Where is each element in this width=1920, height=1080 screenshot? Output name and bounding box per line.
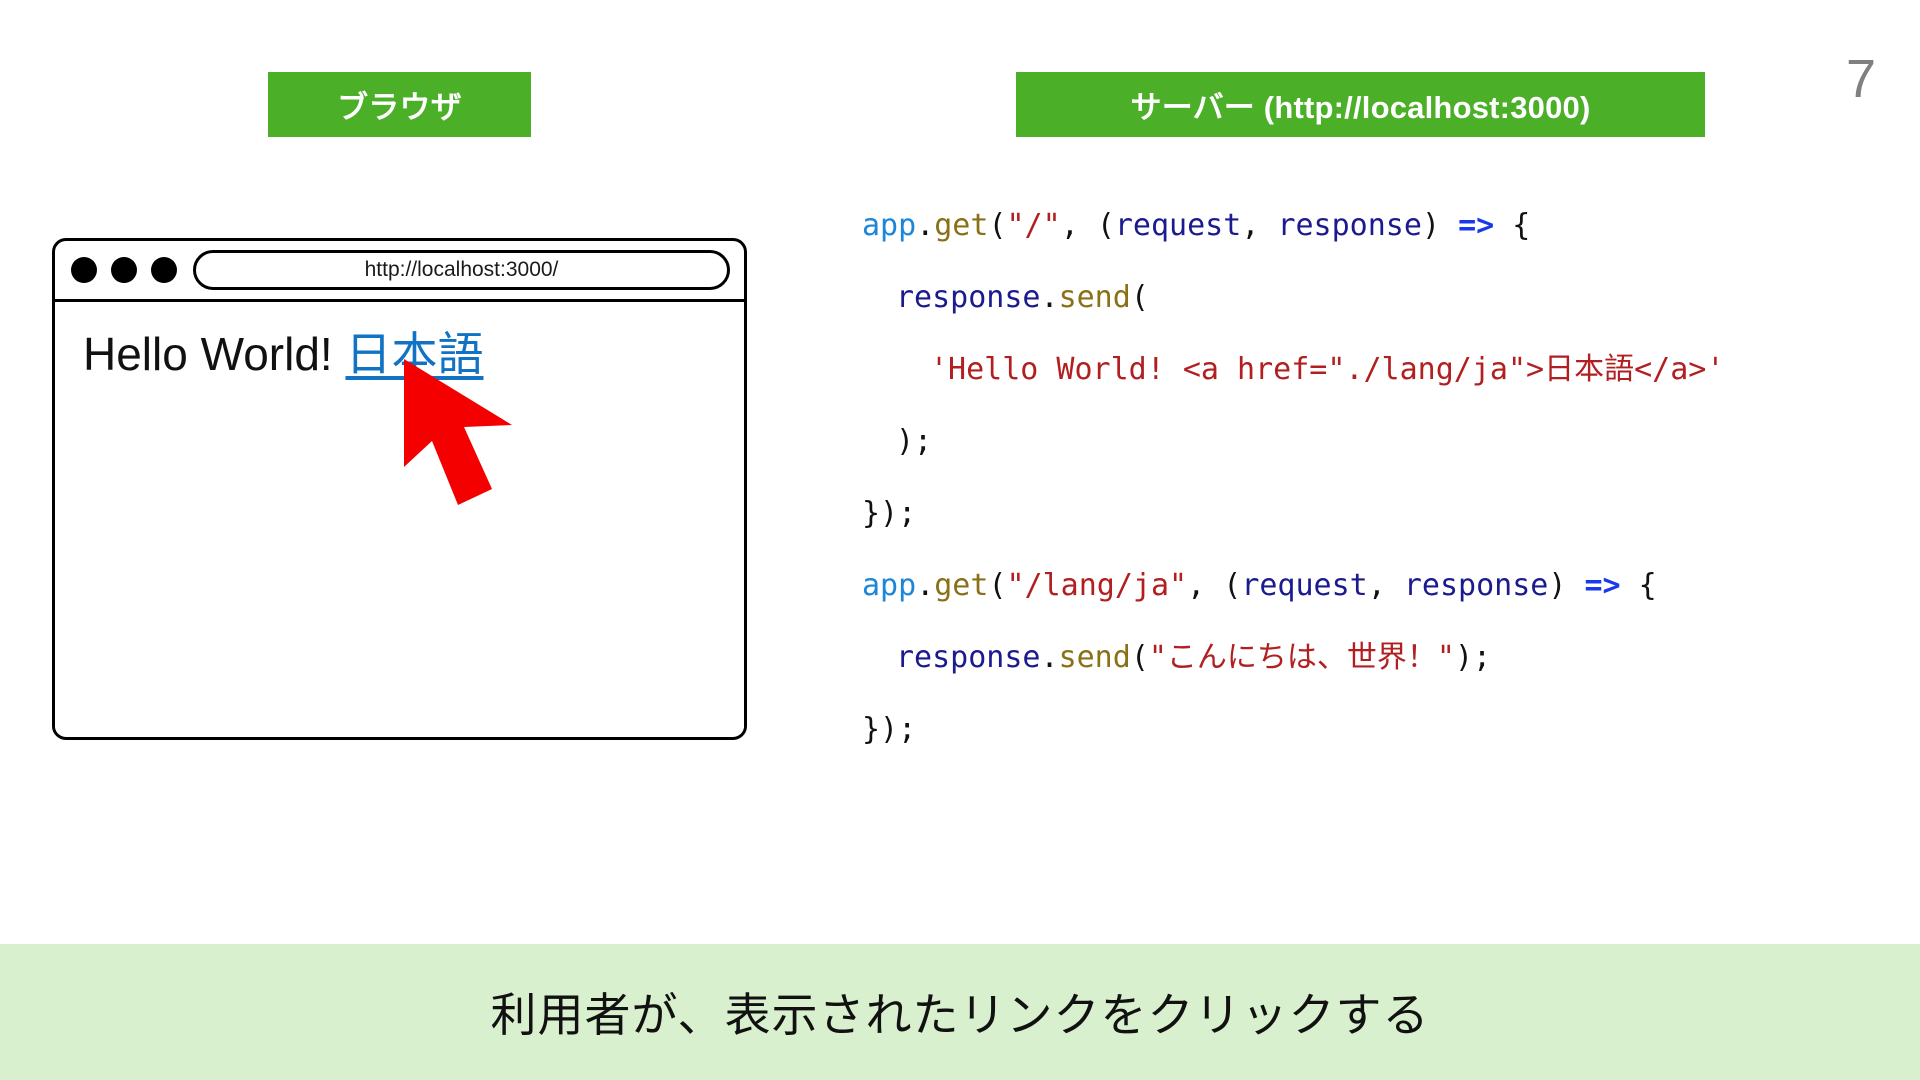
page-text: Hello World! bbox=[83, 328, 345, 380]
code-token-punc: . bbox=[1041, 640, 1059, 675]
code-token-punc: ) bbox=[1548, 568, 1584, 603]
code-token-fn: get bbox=[934, 568, 988, 603]
code-token-punc: }); bbox=[862, 496, 916, 531]
caption-band: 利用者が、表示されたリンクをクリックする bbox=[0, 944, 1920, 1080]
code-token-arrow: => bbox=[1458, 208, 1494, 243]
code-token-punc: . bbox=[916, 568, 934, 603]
code-line: app.get("/", (request, response) => { bbox=[862, 190, 1882, 262]
code-token-punc: { bbox=[1621, 568, 1657, 603]
code-token-obj: app bbox=[862, 568, 916, 603]
code-token-punc: ( bbox=[1131, 280, 1149, 315]
code-token-punc: ( bbox=[1131, 640, 1149, 675]
code-line: }); bbox=[862, 478, 1882, 550]
code-token-param: request bbox=[1115, 208, 1241, 243]
code-token-str: 'Hello World! <a href="./lang/ja">日本語</a… bbox=[930, 352, 1724, 387]
caption-text: 利用者が、表示されたリンクをクリックする bbox=[490, 979, 1429, 1045]
code-token-str: "/" bbox=[1007, 208, 1061, 243]
page-number: 7 bbox=[1846, 48, 1876, 110]
code-token-fn: send bbox=[1059, 640, 1131, 675]
code-line: response.send( bbox=[862, 262, 1882, 334]
code-token-punc: , bbox=[1241, 208, 1277, 243]
section-badge-browser-label: ブラウザ bbox=[337, 82, 462, 127]
code-token-punc: ) bbox=[1422, 208, 1458, 243]
browser-chrome: http://localhost:3000/ bbox=[55, 241, 744, 302]
code-token-arrow: => bbox=[1585, 568, 1621, 603]
rendered-page-content: Hello World! 日本語 bbox=[83, 326, 744, 384]
code-token-punc: , bbox=[1187, 568, 1223, 603]
browser-window-mockup: http://localhost:3000/ Hello World! 日本語 bbox=[52, 238, 747, 740]
maximize-dot-icon[interactable] bbox=[151, 257, 177, 283]
code-token-punc: ( bbox=[1097, 208, 1115, 243]
code-token-punc: ( bbox=[988, 568, 1006, 603]
code-token-param: request bbox=[1241, 568, 1367, 603]
browser-viewport: Hello World! 日本語 bbox=[55, 302, 744, 734]
code-token-param: response bbox=[896, 640, 1041, 675]
code-token-fn: get bbox=[934, 208, 988, 243]
code-line: 'Hello World! <a href="./lang/ja">日本語</a… bbox=[862, 334, 1882, 406]
code-token-punc: ( bbox=[988, 208, 1006, 243]
code-token-param: response bbox=[896, 280, 1041, 315]
page-hyperlink-japanese[interactable]: 日本語 bbox=[345, 328, 483, 380]
code-token-str: "/lang/ja" bbox=[1007, 568, 1188, 603]
code-line: ); bbox=[862, 406, 1882, 478]
code-token-punc: . bbox=[916, 208, 934, 243]
code-token-str: "こんにちは、世界！" bbox=[1149, 640, 1455, 675]
code-token-punc: , bbox=[1368, 568, 1404, 603]
code-token-obj: app bbox=[862, 208, 916, 243]
section-badge-browser: ブラウザ bbox=[268, 72, 531, 137]
code-token-punc: { bbox=[1494, 208, 1530, 243]
code-token-param: response bbox=[1404, 568, 1549, 603]
code-token-punc: . bbox=[1041, 280, 1059, 315]
section-badge-server: サーバー (http://localhost:3000) bbox=[1016, 72, 1705, 137]
close-dot-icon[interactable] bbox=[71, 257, 97, 283]
code-token-punc: ); bbox=[896, 424, 932, 459]
minimize-dot-icon[interactable] bbox=[111, 257, 137, 283]
code-token-fn: send bbox=[1059, 280, 1131, 315]
slide-root: 7 ブラウザ サーバー (http://localhost:3000) http… bbox=[0, 0, 1920, 1080]
code-line: response.send("こんにちは、世界！"); bbox=[862, 622, 1882, 694]
section-badge-server-label: サーバー (http://localhost:3000) bbox=[1131, 82, 1591, 127]
code-line: }); bbox=[862, 694, 1882, 766]
code-line: app.get("/lang/ja", (request, response) … bbox=[862, 550, 1882, 622]
code-token-punc: ( bbox=[1223, 568, 1241, 603]
code-token-punc: }); bbox=[862, 712, 916, 747]
server-code-block: app.get("/", (request, response) => {res… bbox=[862, 190, 1882, 766]
window-control-dots bbox=[71, 257, 177, 283]
code-token-punc: ); bbox=[1455, 640, 1491, 675]
code-token-param: response bbox=[1277, 208, 1422, 243]
address-bar[interactable]: http://localhost:3000/ bbox=[193, 250, 730, 290]
address-bar-url: http://localhost:3000/ bbox=[365, 258, 559, 282]
code-token-punc: , bbox=[1061, 208, 1097, 243]
